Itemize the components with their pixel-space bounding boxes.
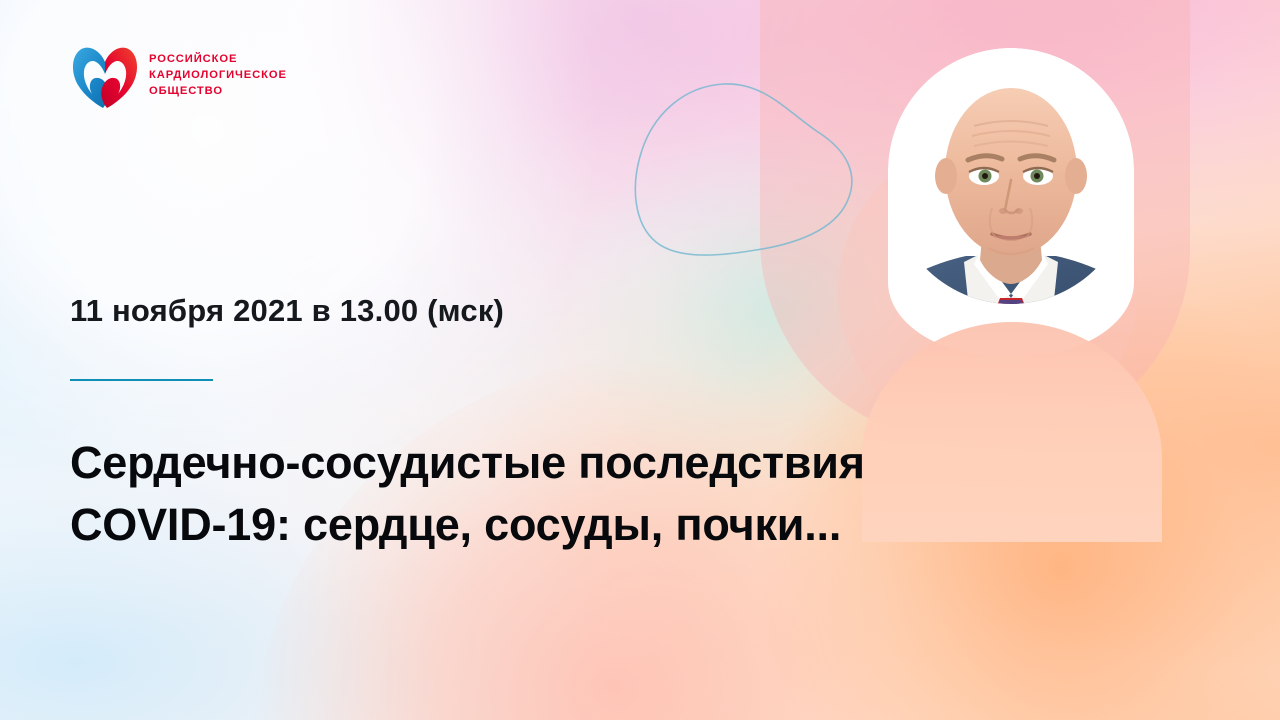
- event-date: 11 ноября 2021 в 13.00 (мск): [70, 293, 504, 329]
- divider: [70, 379, 213, 381]
- organization-name-line-1: РОССИЙСКОЕ: [149, 52, 287, 68]
- organization-name: РОССИЙСКОЕ КАРДИОЛОГИЧЕСКОЕ ОБЩЕСТВО: [149, 52, 287, 100]
- page-title: Сердечно-сосудистые последствия COVID-19…: [70, 432, 1140, 556]
- heart-loops-icon: [70, 40, 140, 112]
- page-title-line-2: COVID-19: сердце, сосуды, почки...: [70, 494, 1140, 556]
- page-title-line-1: Сердечно-сосудистые последствия: [70, 432, 1140, 494]
- speaker-portrait-illustration: [888, 48, 1134, 356]
- webinar-announcement-slide: РОССИЙСКОЕ КАРДИОЛОГИЧЕСКОЕ ОБЩЕСТВО: [0, 0, 1280, 720]
- speaker-portrait: [888, 48, 1134, 356]
- organization-name-line-3: ОБЩЕСТВО: [149, 84, 287, 100]
- organization-name-line-2: КАРДИОЛОГИЧЕСКОЕ: [149, 68, 287, 84]
- organization-logo: РОССИЙСКОЕ КАРДИОЛОГИЧЕСКОЕ ОБЩЕСТВО: [70, 40, 287, 112]
